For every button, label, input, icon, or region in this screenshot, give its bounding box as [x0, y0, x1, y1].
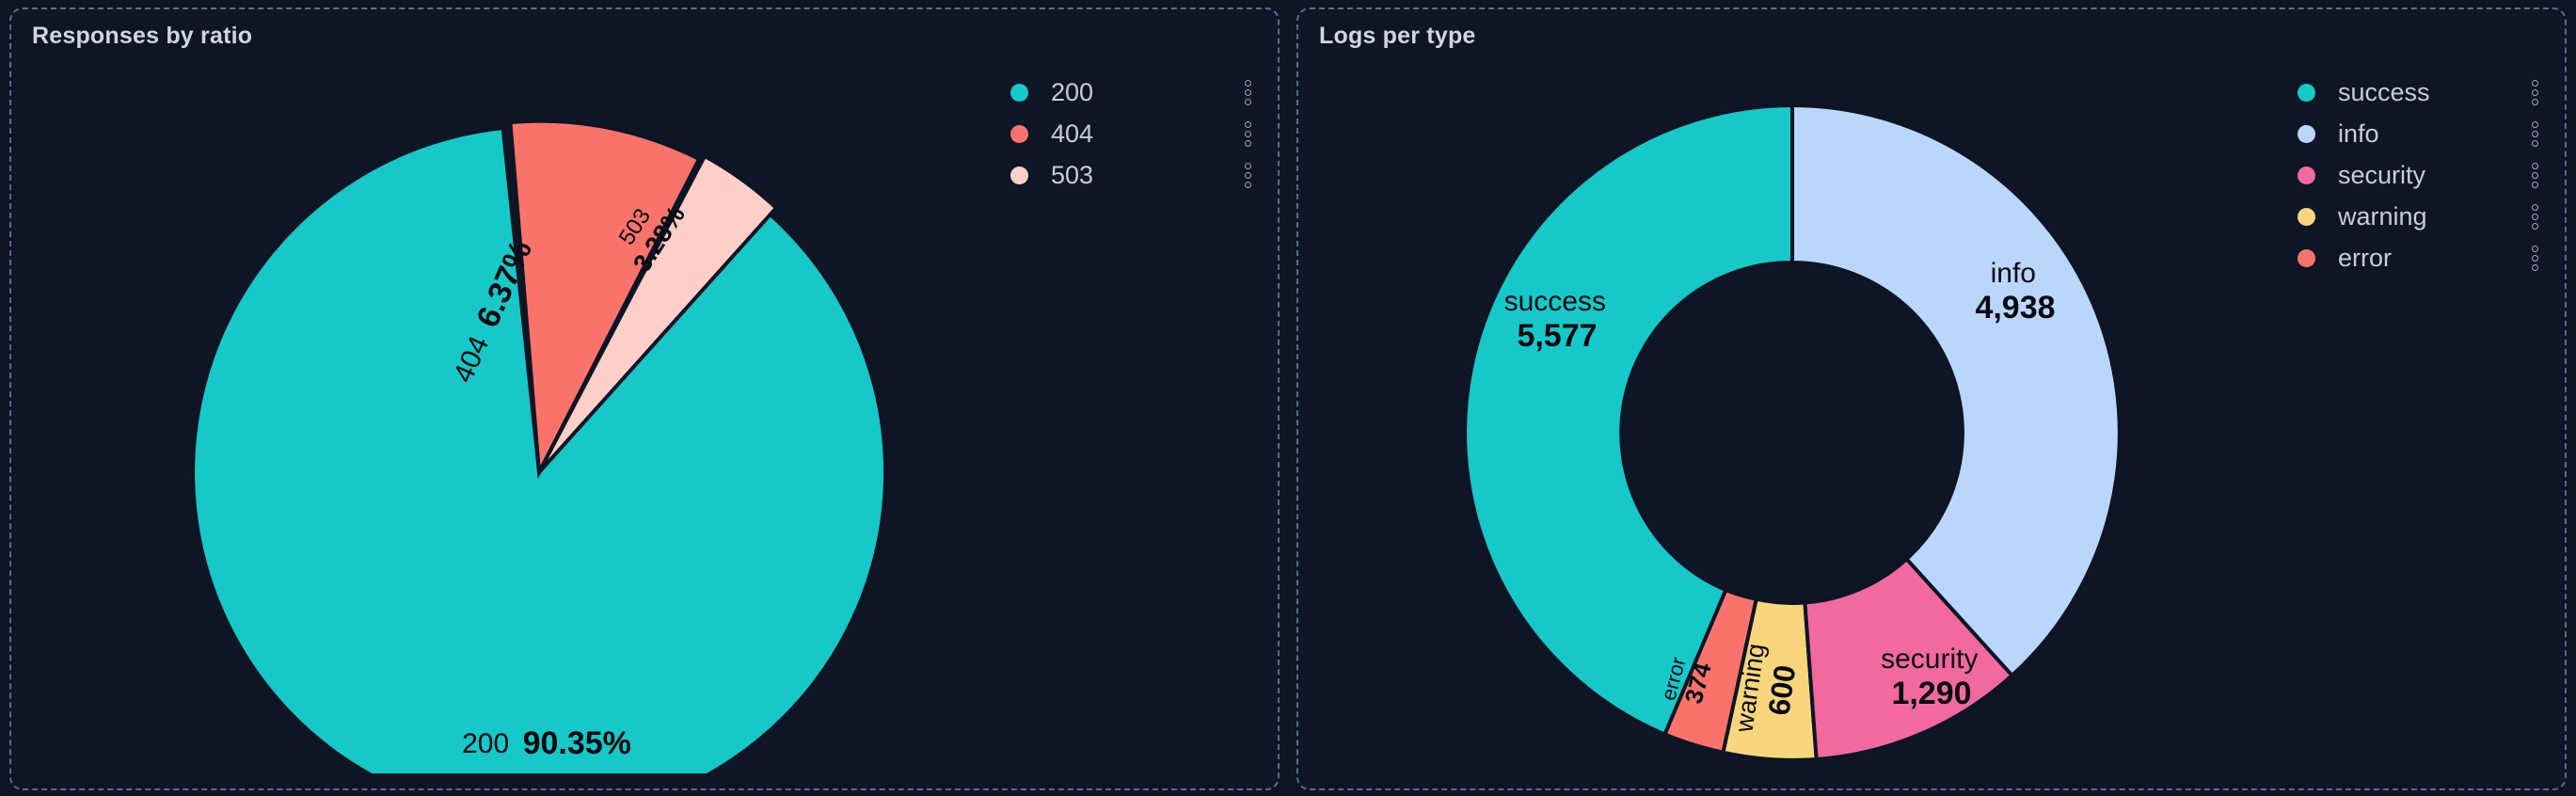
- legend-color-swatch-success: [2298, 84, 2315, 102]
- panel-responses-by-ratio: Responses by ratio 404: [9, 8, 1280, 790]
- legend-label-200: 200: [1051, 78, 1240, 107]
- donut-label-security: security 1,290: [1881, 644, 1982, 711]
- legend-color-swatch-security: [2298, 167, 2315, 184]
- donut-svg: success 5,577 info 4,938: [1311, 58, 2270, 773]
- page-title: Responses by ratio: [32, 23, 252, 50]
- page-title: Logs per type: [1319, 23, 1476, 50]
- legend-menu-icon-warning[interactable]: [2527, 200, 2542, 232]
- legend-color-swatch-error: [2298, 249, 2315, 267]
- legend-logs: success info security warning: [2282, 58, 2565, 788]
- legend-item-success[interactable]: success: [2282, 72, 2565, 113]
- svg-text:security 1,290: security 1,290: [1881, 644, 1982, 711]
- legend-color-swatch-warning: [2298, 208, 2315, 226]
- legend-color-swatch-404: [1010, 125, 1028, 143]
- pie-chart-responses: 404 6.37% 503 3.28% 20: [11, 58, 995, 788]
- legend-item-warning[interactable]: warning: [2282, 196, 2565, 237]
- pie-svg: 404 6.37% 503 3.28% 20: [24, 58, 983, 773]
- legend-item-error[interactable]: error: [2282, 237, 2565, 279]
- legend-label-info: info: [2338, 119, 2527, 149]
- legend-label-error: error: [2338, 244, 2527, 273]
- legend-responses: 200 404 503: [995, 58, 1278, 788]
- legend-menu-icon-success[interactable]: [2527, 76, 2542, 108]
- pie-label-200: 200 90.35%: [462, 725, 631, 761]
- legend-color-swatch-info: [2298, 125, 2315, 143]
- svg-text:success 5,577: success 5,577: [1504, 286, 1611, 354]
- dashboard: Responses by ratio 404: [0, 0, 2576, 796]
- legend-menu-icon-200[interactable]: [1240, 76, 1255, 108]
- legend-menu-icon-info[interactable]: [2527, 118, 2542, 150]
- legend-label-success: success: [2338, 78, 2527, 107]
- legend-label-security: security: [2338, 161, 2527, 190]
- legend-menu-icon-404[interactable]: [1240, 118, 1255, 150]
- legend-menu-icon-security[interactable]: [2527, 159, 2542, 191]
- panel-logs-per-type: Logs per type: [1296, 8, 2567, 790]
- legend-item-security[interactable]: security: [2282, 154, 2565, 196]
- legend-item-503[interactable]: 503: [995, 154, 1278, 196]
- donut-slice-info[interactable]: [1792, 105, 2120, 676]
- legend-item-200[interactable]: 200: [995, 72, 1278, 113]
- legend-menu-icon-error[interactable]: [2527, 242, 2542, 274]
- legend-label-404: 404: [1051, 119, 1240, 149]
- legend-label-warning: warning: [2338, 202, 2527, 231]
- legend-color-swatch-503: [1010, 167, 1028, 184]
- panel-body: success 5,577 info 4,938: [1298, 58, 2565, 788]
- svg-text:200 90.35%: 200 90.35%: [462, 725, 631, 761]
- legend-label-503: 503: [1051, 161, 1240, 190]
- legend-color-swatch-200: [1010, 84, 1028, 102]
- panel-body: 404 6.37% 503 3.28% 20: [11, 58, 1278, 788]
- legend-item-404[interactable]: 404: [995, 113, 1278, 154]
- legend-menu-icon-503[interactable]: [1240, 159, 1255, 191]
- donut-label-success: success 5,577: [1504, 286, 1611, 354]
- donut-chart-logs: success 5,577 info 4,938: [1298, 58, 2282, 788]
- legend-item-info[interactable]: info: [2282, 113, 2565, 154]
